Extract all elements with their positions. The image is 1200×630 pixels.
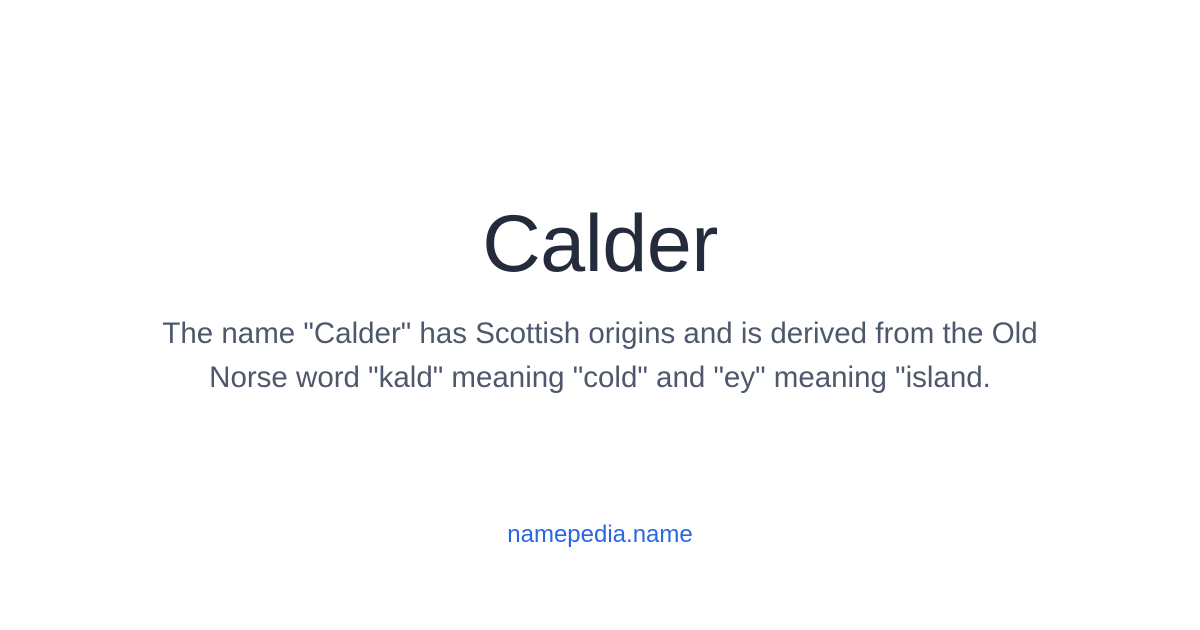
name-description: The name "Calder" has Scottish origins a… <box>150 312 1050 400</box>
page-title: Calder <box>0 0 1200 285</box>
site-link[interactable]: namepedia.name <box>507 521 692 548</box>
name-meaning-card: Calder The name "Calder" has Scottish or… <box>0 0 1200 630</box>
footer: namepedia.name <box>0 520 1200 550</box>
